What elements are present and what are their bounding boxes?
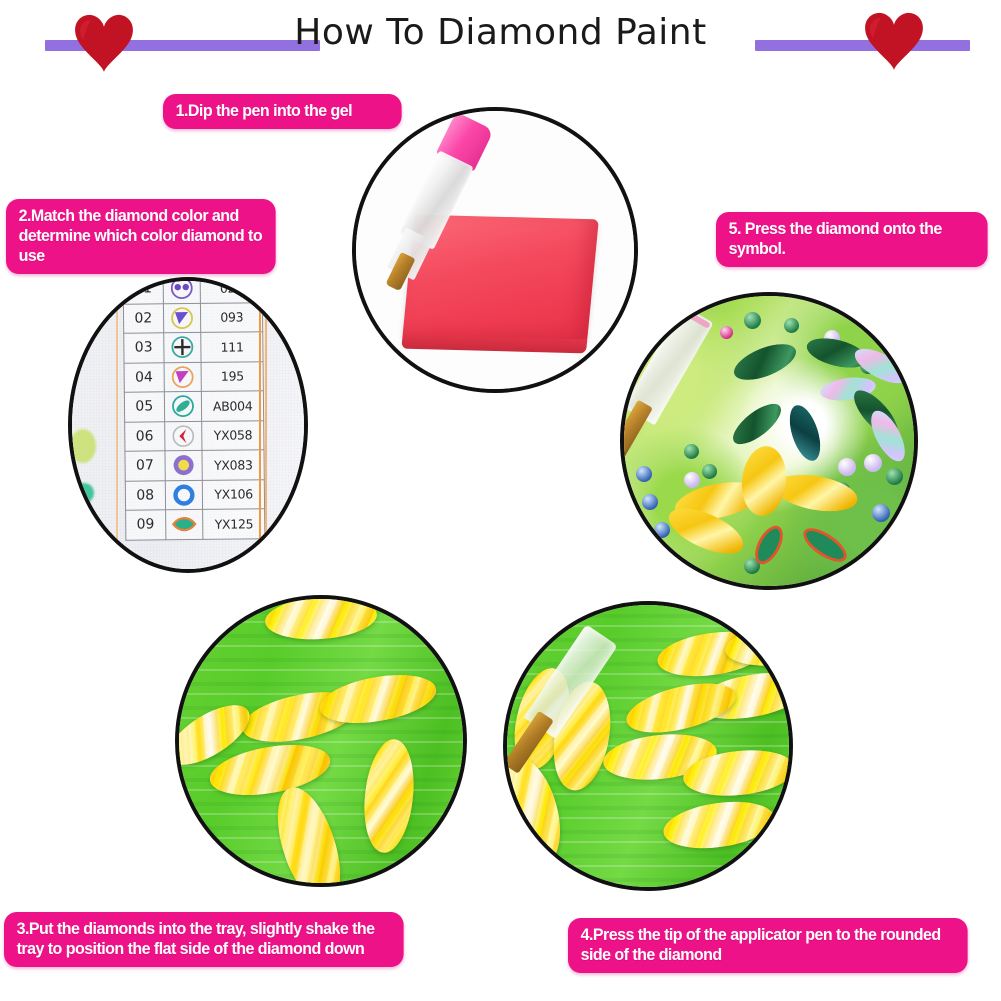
legend-symbol-filled-triangle-circle-icon bbox=[163, 303, 201, 333]
legend-code-cell: YX106 bbox=[203, 479, 265, 509]
legend-symbol-slanted-oval-circle-icon bbox=[164, 391, 202, 421]
legend-code-cell: YX125 bbox=[203, 509, 265, 539]
legend-number-cell: 05 bbox=[124, 392, 164, 422]
legend-code-cell: YX058 bbox=[202, 420, 264, 450]
step-5-label: 5. Press the diamond onto the symbol. bbox=[716, 212, 988, 267]
table-row: 02 093 bbox=[123, 302, 262, 333]
legend-number-cell: 03 bbox=[124, 333, 164, 363]
legend-number-cell: 08 bbox=[125, 480, 165, 510]
legend-code-cell: 093 bbox=[201, 302, 263, 332]
photo-color-chart: 01 02802 09303 11104 19505 AB00406 YX058… bbox=[68, 277, 308, 573]
table-row: 06 YX058 bbox=[125, 420, 264, 451]
photo-diamonds-in-tray bbox=[175, 595, 467, 887]
legend-number-cell: 02 bbox=[123, 303, 163, 333]
legend-number-cell: 01 bbox=[123, 281, 163, 304]
infographic-canvas: How To Diamond Paint 1.Dip the pen into … bbox=[0, 0, 1001, 1001]
legend-symbol-dot-in-ring-circle-icon bbox=[165, 450, 203, 480]
legend-symbol-plus-circle-icon bbox=[163, 332, 201, 362]
header: How To Diamond Paint bbox=[0, 0, 1001, 82]
legend-symbol-left-chevron-circle-icon bbox=[164, 421, 202, 451]
legend-number-cell: 06 bbox=[125, 421, 165, 451]
table-row: 03 111 bbox=[124, 332, 263, 363]
legend-symbol-leaf-outline-icon bbox=[165, 509, 203, 539]
legend-code-cell: 195 bbox=[201, 361, 263, 391]
table-row: 08YX106 bbox=[125, 479, 264, 510]
table-row: 09YX125 bbox=[126, 509, 265, 540]
legend-number-cell: 09 bbox=[126, 510, 166, 540]
table-row: 01 028 bbox=[123, 281, 262, 304]
table-row: 04 195 bbox=[124, 361, 263, 392]
legend-code-cell: 111 bbox=[201, 332, 263, 362]
photo-pen-picking-diamond bbox=[503, 601, 793, 891]
photo-pen-dipping-gel bbox=[352, 107, 638, 393]
canvas-color-smudge bbox=[74, 483, 94, 503]
step-4-label: 4.Press the tip of the applicator pen to… bbox=[568, 918, 968, 973]
step-3-label: 3.Put the diamonds into the tray, slight… bbox=[4, 912, 404, 967]
step-2-label: 2.Match the diamond color and determine … bbox=[6, 199, 276, 274]
legend-symbol-thick-ring-circle-icon bbox=[165, 480, 203, 510]
legend-number-cell: 04 bbox=[124, 362, 164, 392]
page-title: How To Diamond Paint bbox=[0, 12, 1001, 53]
legend-symbol-filled-triangle-circle-icon bbox=[164, 362, 202, 392]
diamond-color-legend-table: 01 02802 09303 11104 19505 AB00406 YX058… bbox=[123, 281, 266, 540]
table-row: 07 YX083 bbox=[125, 450, 264, 481]
legend-number-cell: 07 bbox=[125, 451, 165, 481]
legend-symbol-double-dot-circle-icon bbox=[163, 281, 201, 303]
legend-code-cell: 028 bbox=[200, 281, 262, 303]
legend-code-cell: AB004 bbox=[202, 391, 264, 421]
legend-code-cell: YX083 bbox=[202, 450, 264, 480]
table-row: 05 AB004 bbox=[124, 391, 263, 422]
photo-press-onto-symbol bbox=[620, 292, 918, 590]
